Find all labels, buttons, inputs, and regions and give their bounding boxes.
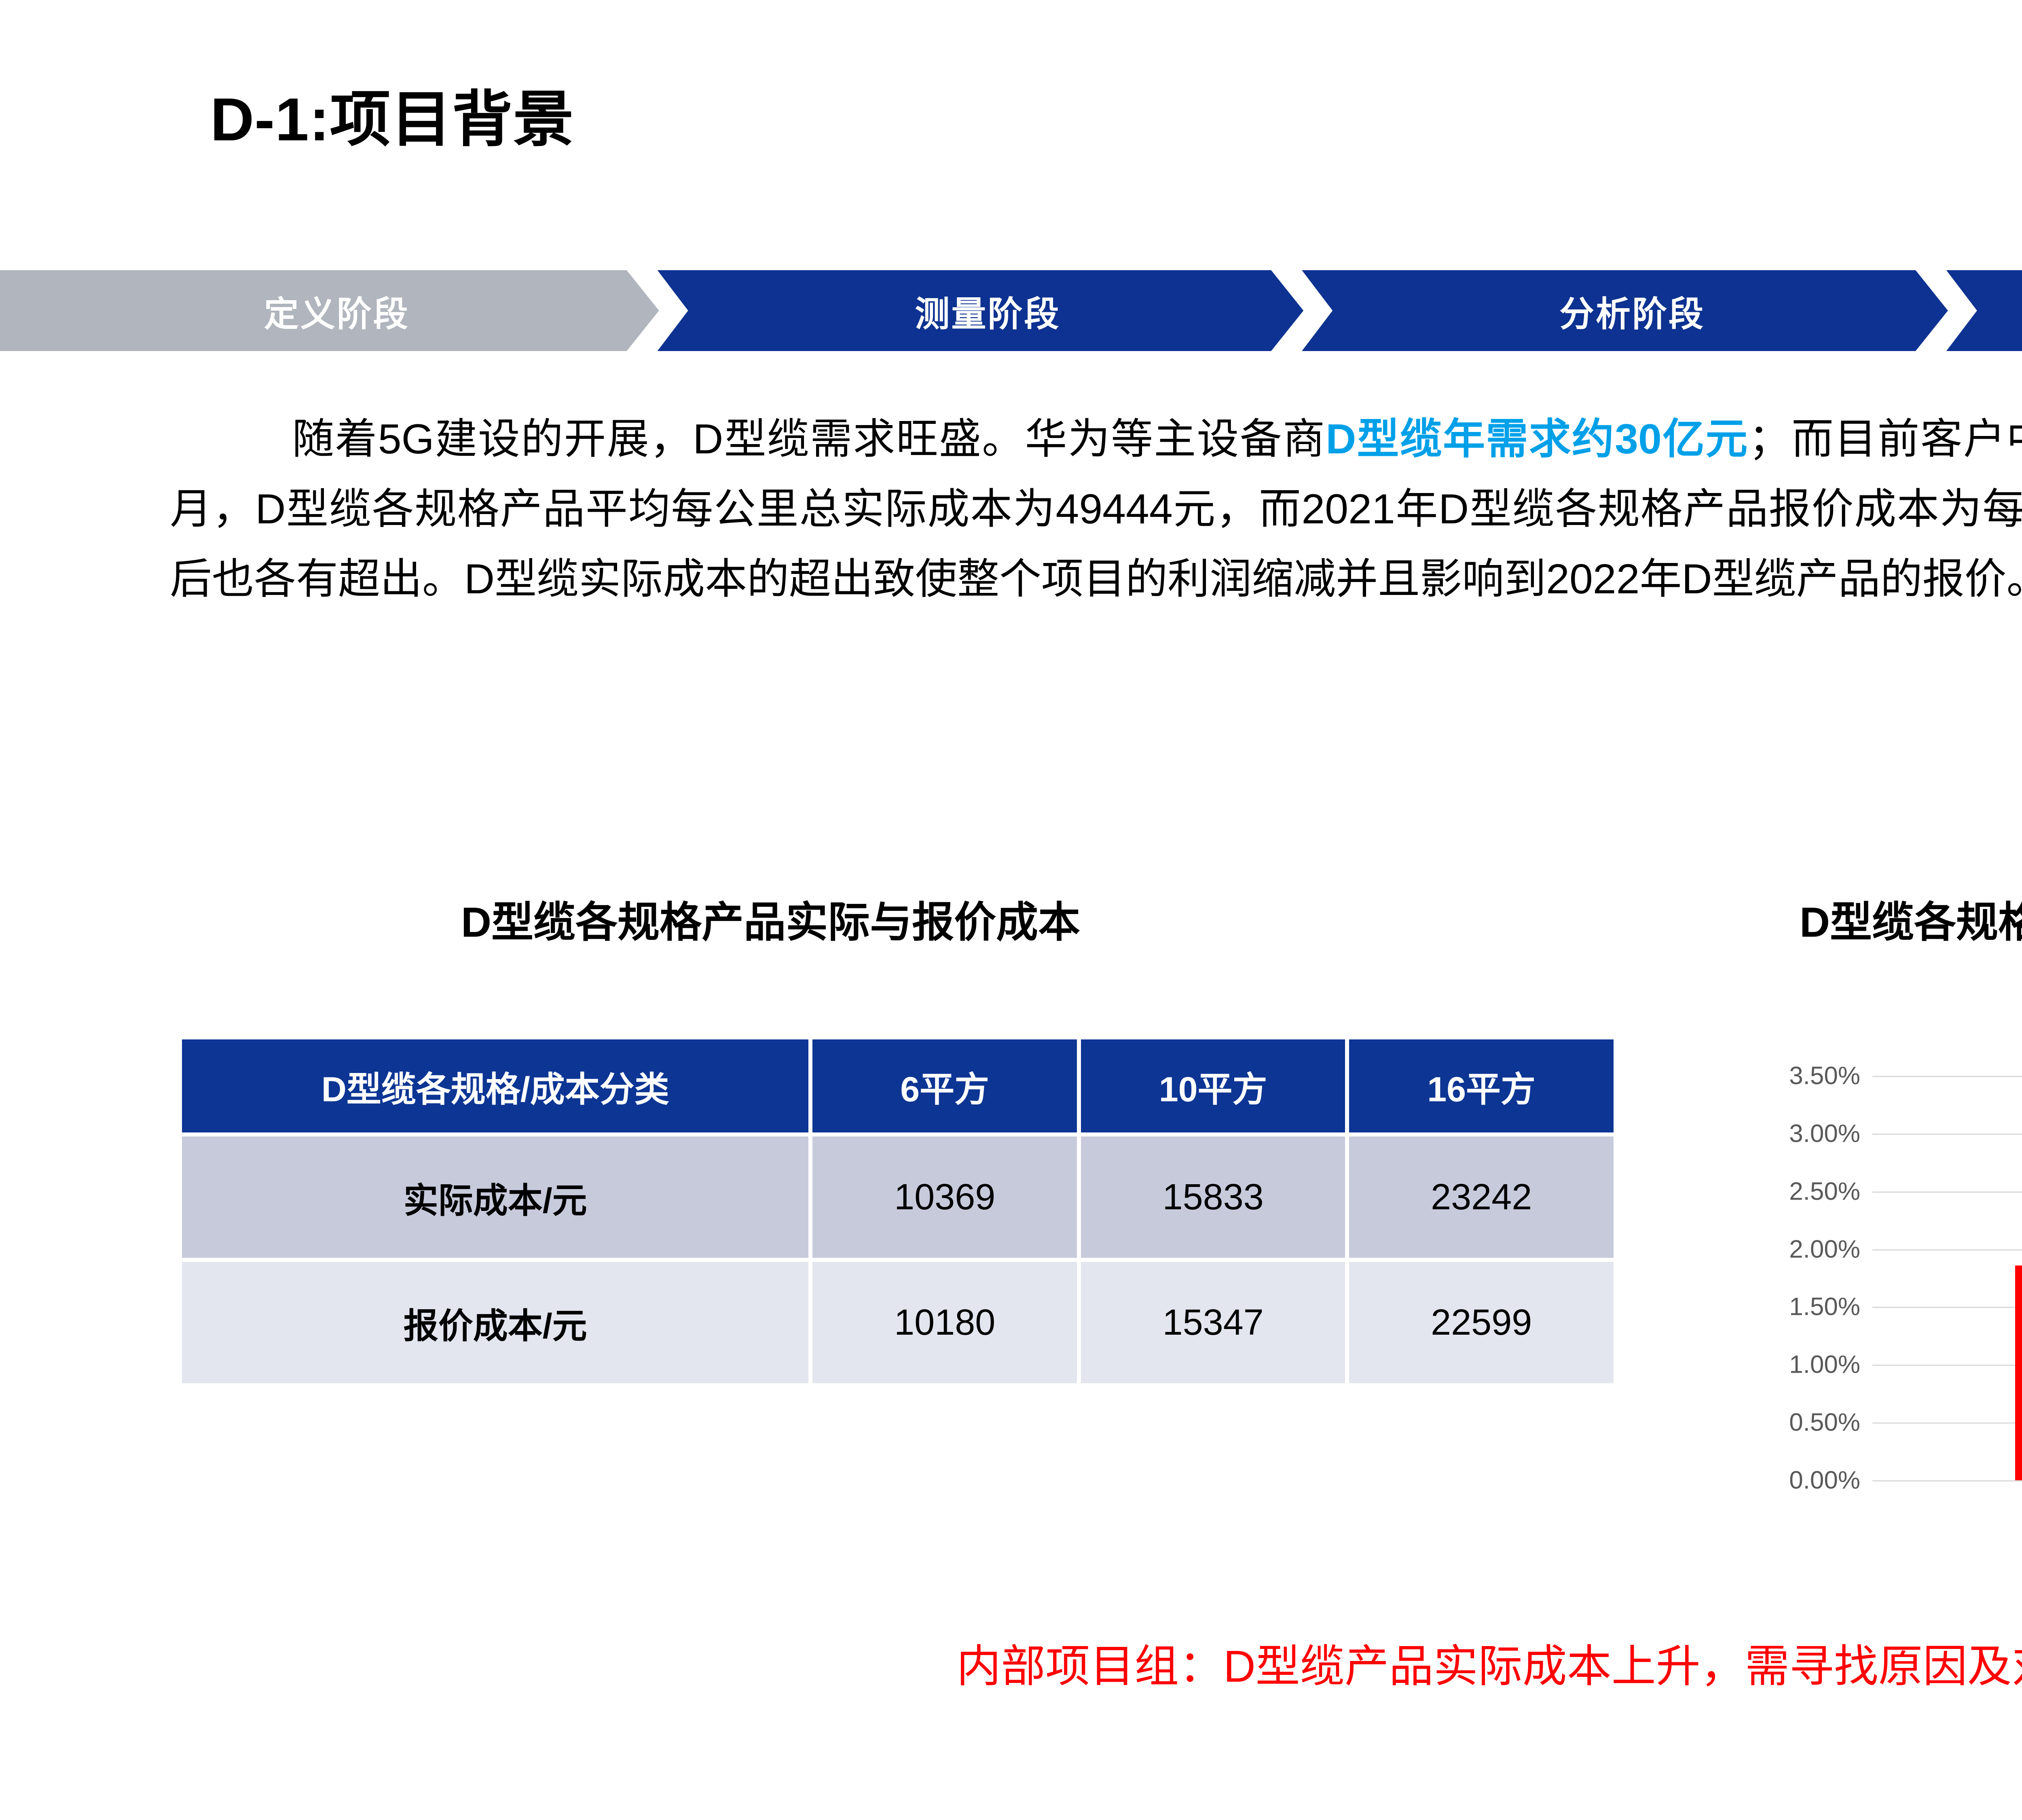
chart-gridline: [1872, 1191, 2022, 1193]
y-axis-tick-label: 2.50%: [1682, 1177, 1860, 1206]
col-header-category: D型缆各规格/成本分类: [182, 1039, 808, 1132]
row-label-quoted-cost: 报价成本/元: [182, 1262, 808, 1383]
chart-heading: D型缆各规格产品实际成本超报价成本百分比图: [1800, 888, 2022, 949]
y-axis-tick-label: 0.00%: [1682, 1466, 1860, 1495]
y-axis-tick-label: 0.50%: [1682, 1408, 1860, 1437]
col-header-16: 16平方: [1349, 1039, 1614, 1132]
title-block: D-1:项目背景: [210, 79, 1666, 192]
cost-table: D型缆各规格/成本分类 6平方 10平方 16平方 实际成本/元 10369 1…: [178, 1035, 1618, 1387]
conclusion-callout: 内部项目组：D型缆产品实际成本上升，需寻找原因及对应改善措施: [0, 1630, 2022, 1695]
y-axis-tick-label: 2.00%: [1682, 1235, 1860, 1263]
stage-label: 定义阶段: [264, 286, 410, 336]
process-stage-bar: 定义阶段 测量阶段 分析阶段 改进阶段 控制阶段: [0, 270, 2022, 351]
chart-gridline: [1872, 1134, 2022, 1135]
y-axis-tick-label: 1.50%: [1682, 1293, 1860, 1321]
table-head: D型缆各规格/成本分类 6平方 10平方 16平方: [182, 1039, 1614, 1132]
process-stage-define[interactable]: 定义阶段: [0, 270, 659, 351]
cell-actual-16: 23242: [1349, 1136, 1614, 1258]
table-body: 实际成本/元 10369 15833 23242 报价成本/元 10180 15…: [182, 1136, 1614, 1383]
background-paragraph: 随着5G建设的开展，D型缆需求旺盛。华为等主设备商D型缆年需求约30亿元；而目前…: [170, 404, 2022, 614]
paragraph-run-0: 随着5G建设的开展，D型缆需求旺盛。华为等主设备商: [291, 416, 1326, 463]
table-row: 报价成本/元 10180 15347 22599: [182, 1262, 1614, 1383]
chart-gridline: [1872, 1480, 2022, 1481]
row-label-actual-cost: 实际成本/元: [182, 1136, 808, 1258]
cell-quoted-6: 10180: [812, 1262, 1077, 1383]
paragraph-runs: 随着5G建设的开展，D型缆需求旺盛。华为等主设备商D型缆年需求约30亿元；而目前…: [170, 416, 2022, 603]
paragraph-run-2: ；而目前客户中兴D型缆: [1749, 416, 2022, 463]
cell-actual-6: 10369: [812, 1136, 1077, 1258]
table-row: 实际成本/元 10369 15833 23242: [182, 1136, 1614, 1258]
y-axis-tick-label: 3.50%: [1682, 1062, 1860, 1090]
process-stage-improve[interactable]: 改进阶段: [1946, 270, 2022, 351]
col-header-10: 10平方: [1081, 1039, 1345, 1132]
y-axis-tick-label: 3.00%: [1682, 1119, 1860, 1148]
process-stage-measure[interactable]: 测量阶段: [658, 270, 1304, 351]
chart-gridline: [1872, 1422, 2022, 1424]
y-axis-tick-label: 1.00%: [1682, 1350, 1860, 1379]
paragraph-run-1: D型缆年需求约30亿元: [1326, 416, 1748, 463]
chart-gridline: [1872, 1076, 2022, 1077]
chart-plot-area: 0.00%0.50%1.00%1.50%2.00%2.50%3.00%3.50%…: [1872, 1076, 2022, 1480]
bar-value-label: 1.86%: [1963, 1217, 2022, 1256]
page-title: D-1:项目背景: [210, 79, 1666, 160]
table-header-row: D型缆各规格/成本分类 6平方 10平方 16平方: [182, 1039, 1614, 1132]
stage-label: 分析阶段: [1559, 286, 1705, 336]
chart-gridline: [1872, 1307, 2022, 1308]
process-stage-analyze[interactable]: 分析阶段: [1302, 270, 1948, 351]
stage-label: 测量阶段: [915, 286, 1060, 336]
chart-gridline: [1872, 1365, 2022, 1366]
cell-actual-10: 15833: [1081, 1136, 1345, 1258]
chart-bar[interactable]: [2015, 1266, 2022, 1480]
cell-quoted-16: 22599: [1349, 1262, 1614, 1383]
cell-quoted-10: 15347: [1081, 1262, 1345, 1383]
percentage-bar-chart: （实际成本-报价成本）/报... 0.00%0.50%1.00%1.50%2.0…: [1711, 1003, 2022, 1569]
col-header-6: 6平方: [812, 1039, 1077, 1132]
x-axis-tick-label: 6平方: [1963, 1505, 2022, 1541]
table-heading: D型缆各规格产品实际与报价成本: [461, 888, 1080, 949]
